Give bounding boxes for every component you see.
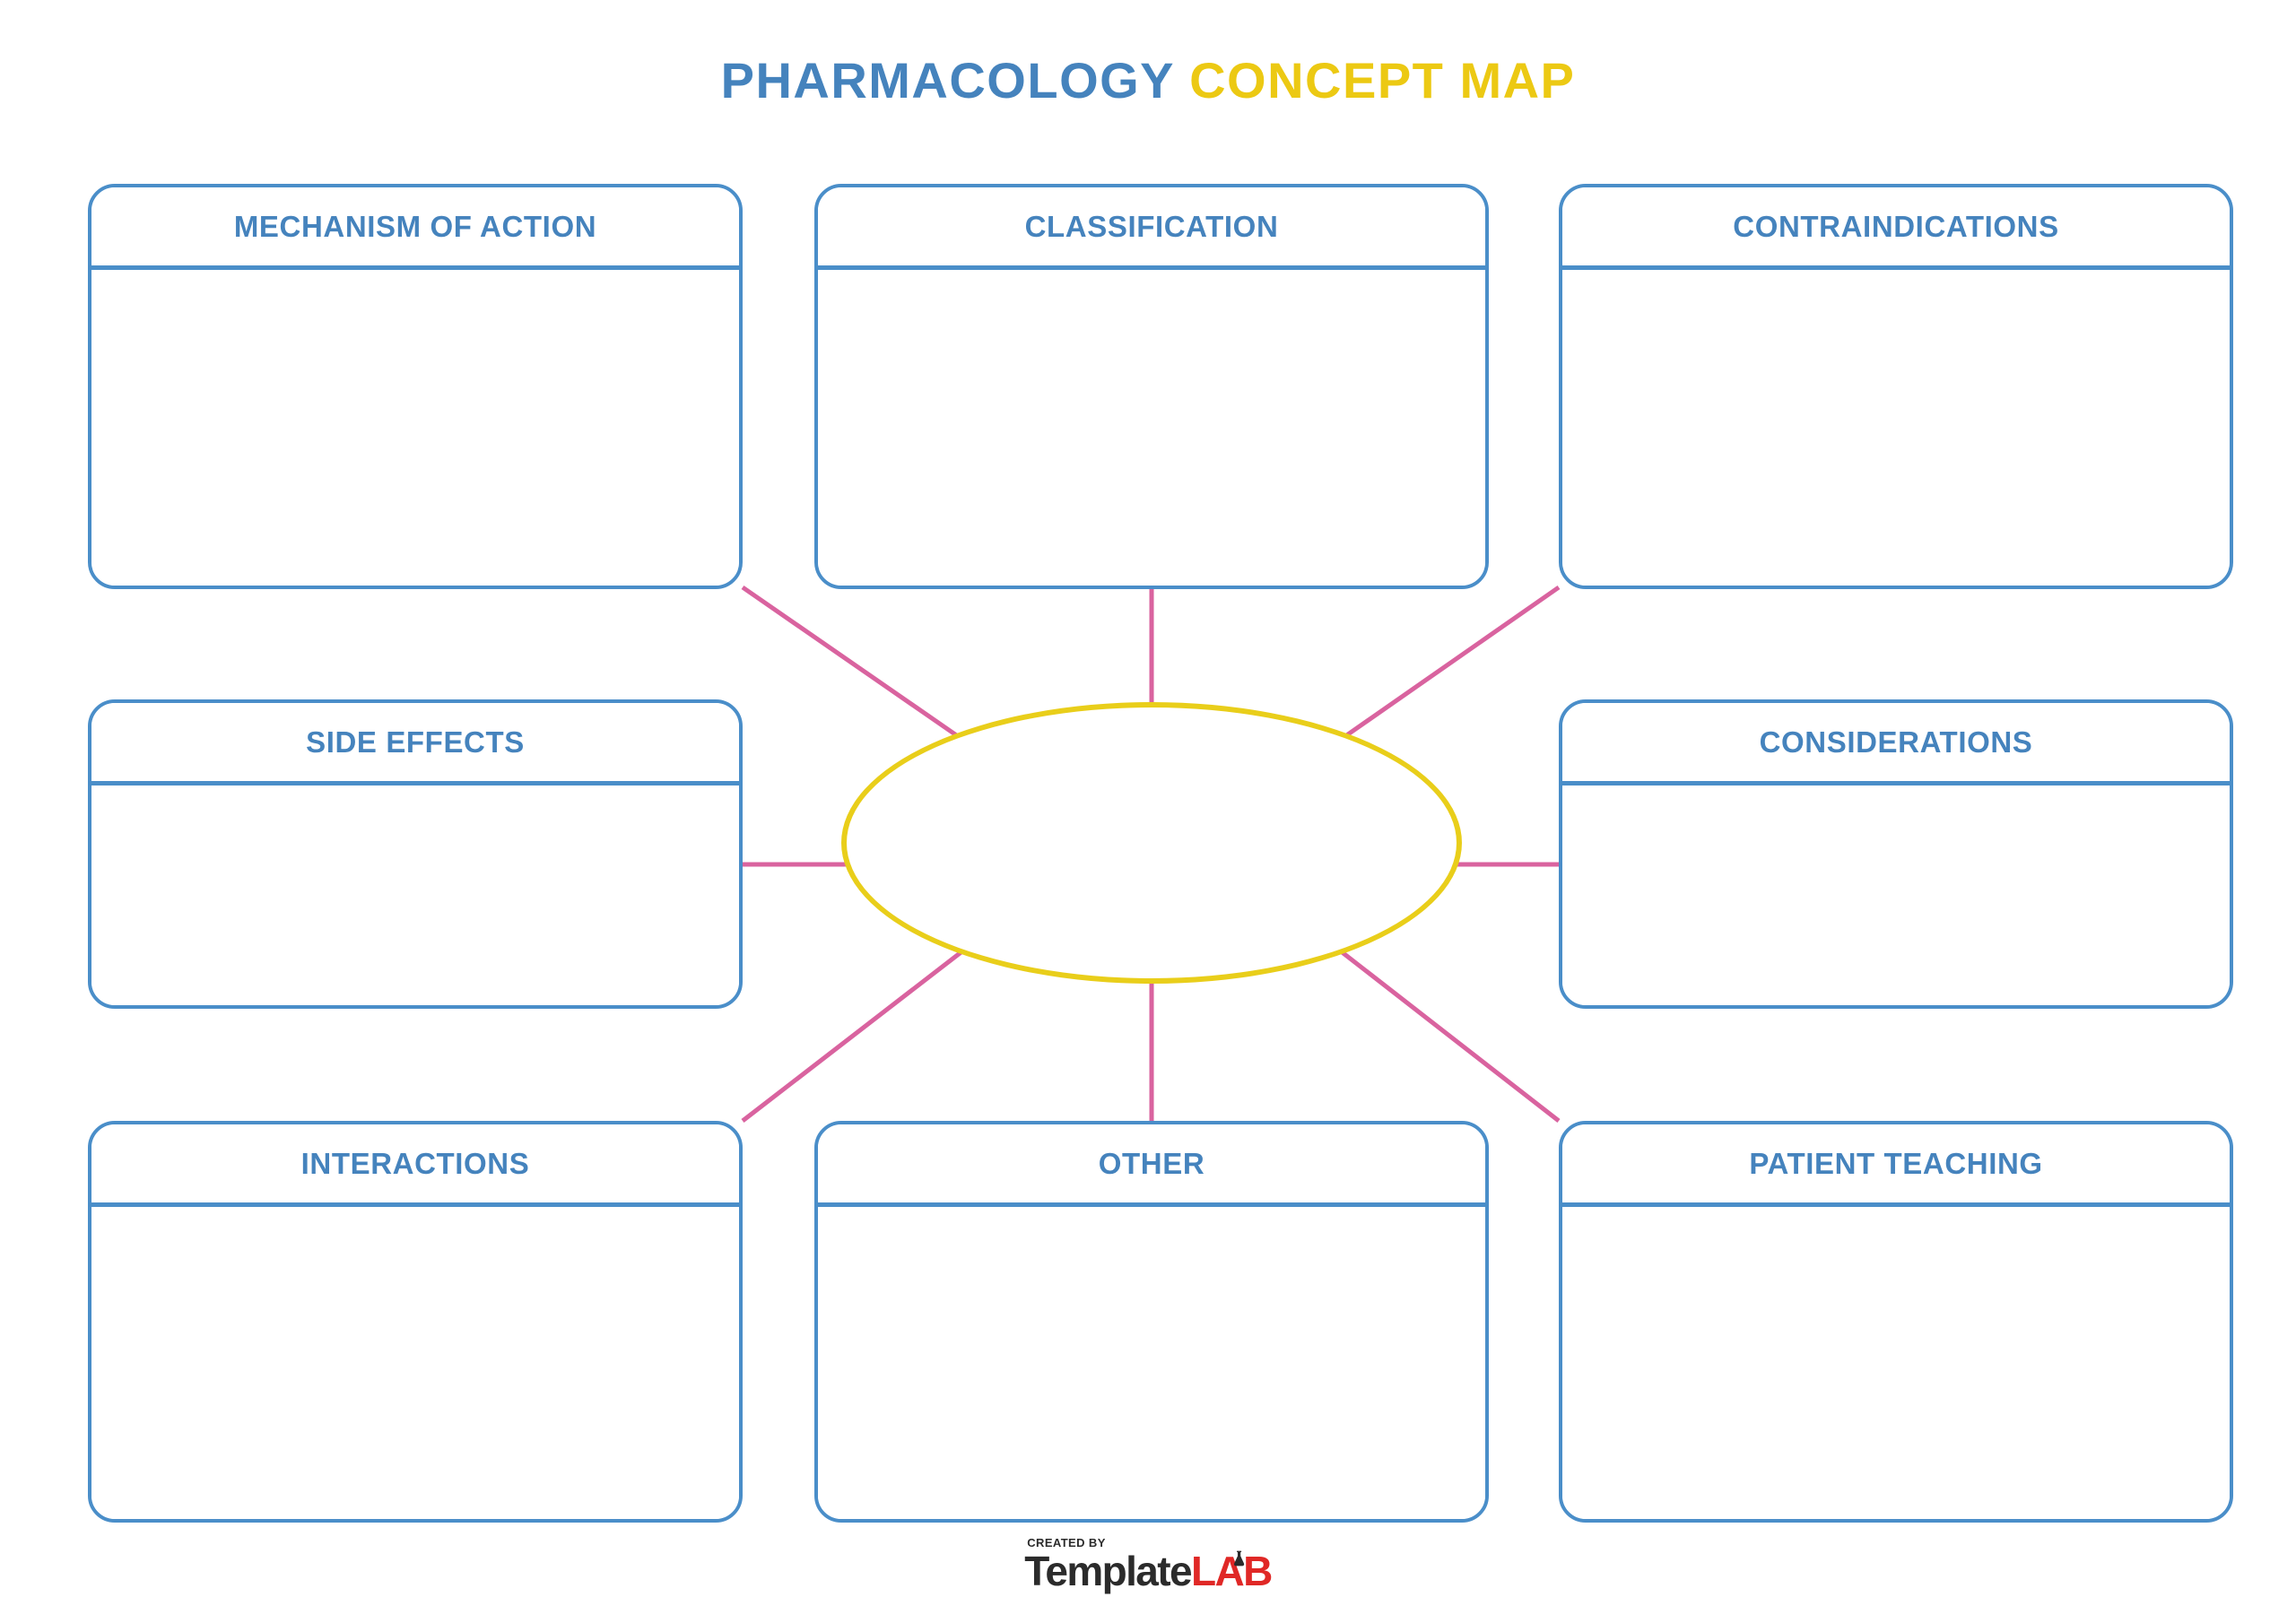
card-header-patient-teaching: PATIENT TEACHING — [1562, 1124, 2230, 1207]
card-body-patient-teaching[interactable] — [1562, 1207, 2230, 1523]
card-body-side-effects[interactable] — [91, 785, 739, 1009]
card-patient-teaching[interactable]: PATIENT TEACHING — [1559, 1121, 2233, 1523]
concept-map-canvas: PHARMACOLOGY CONCEPT MAP MECHANISM OF AC… — [0, 0, 2296, 1623]
card-header-other: OTHER — [818, 1124, 1485, 1207]
card-header-interactions: INTERACTIONS — [91, 1124, 739, 1207]
logo-template-text: Template — [1024, 1548, 1191, 1594]
card-title-side-effects: SIDE EFFECTS — [306, 727, 525, 757]
logo-lab-text: LAB — [1191, 1548, 1272, 1594]
card-title-contraindications: CONTRAINDICATIONS — [1733, 212, 2058, 241]
connector-line-patient-teaching — [1336, 948, 1559, 1121]
card-side-effects[interactable]: SIDE EFFECTS — [88, 699, 743, 1009]
card-considerations[interactable]: CONSIDERATIONS — [1559, 699, 2233, 1009]
card-title-mechanism-of-action: MECHANISM OF ACTION — [234, 212, 596, 241]
connector-line-contraindications — [1336, 587, 1559, 742]
card-title-patient-teaching: PATIENT TEACHING — [1749, 1149, 2042, 1178]
card-title-interactions: INTERACTIONS — [301, 1149, 530, 1178]
central-drug-node[interactable] — [841, 702, 1462, 984]
card-header-mechanism-of-action: MECHANISM OF ACTION — [91, 187, 739, 270]
card-header-side-effects: SIDE EFFECTS — [91, 703, 739, 785]
card-contraindications[interactable]: CONTRAINDICATIONS — [1559, 184, 2233, 589]
card-title-other: OTHER — [1099, 1149, 1205, 1178]
templatelab-logo: CREATED BY TemplateLAB — [0, 1537, 2296, 1592]
card-interactions[interactable]: INTERACTIONS — [88, 1121, 743, 1523]
flask-icon — [1231, 1549, 1248, 1567]
card-body-other[interactable] — [818, 1207, 1485, 1523]
card-body-classification[interactable] — [818, 270, 1485, 589]
connector-line-interactions — [743, 948, 967, 1121]
card-body-mechanism-of-action[interactable] — [91, 270, 739, 589]
logo-inner: CREATED BY TemplateLAB — [1024, 1537, 1271, 1592]
page-title: PHARMACOLOGY CONCEPT MAP — [0, 56, 2296, 106]
card-header-considerations: CONSIDERATIONS — [1562, 703, 2230, 785]
card-other[interactable]: OTHER — [814, 1121, 1489, 1523]
card-title-classification: CLASSIFICATION — [1025, 212, 1279, 241]
card-body-interactions[interactable] — [91, 1207, 739, 1523]
page-title-secondary: CONCEPT MAP — [1189, 52, 1575, 108]
card-header-classification: CLASSIFICATION — [818, 187, 1485, 270]
card-body-contraindications[interactable] — [1562, 270, 2230, 589]
card-body-considerations[interactable] — [1562, 785, 2230, 1009]
connector-line-mechanism-of-action — [743, 587, 967, 742]
card-title-considerations: CONSIDERATIONS — [1760, 727, 2033, 757]
card-mechanism-of-action[interactable]: MECHANISM OF ACTION — [88, 184, 743, 589]
card-classification[interactable]: CLASSIFICATION — [814, 184, 1489, 589]
card-header-contraindications: CONTRAINDICATIONS — [1562, 187, 2230, 270]
page-title-primary: PHARMACOLOGY — [721, 52, 1174, 108]
logo-wordmark: TemplateLAB — [1024, 1550, 1271, 1592]
